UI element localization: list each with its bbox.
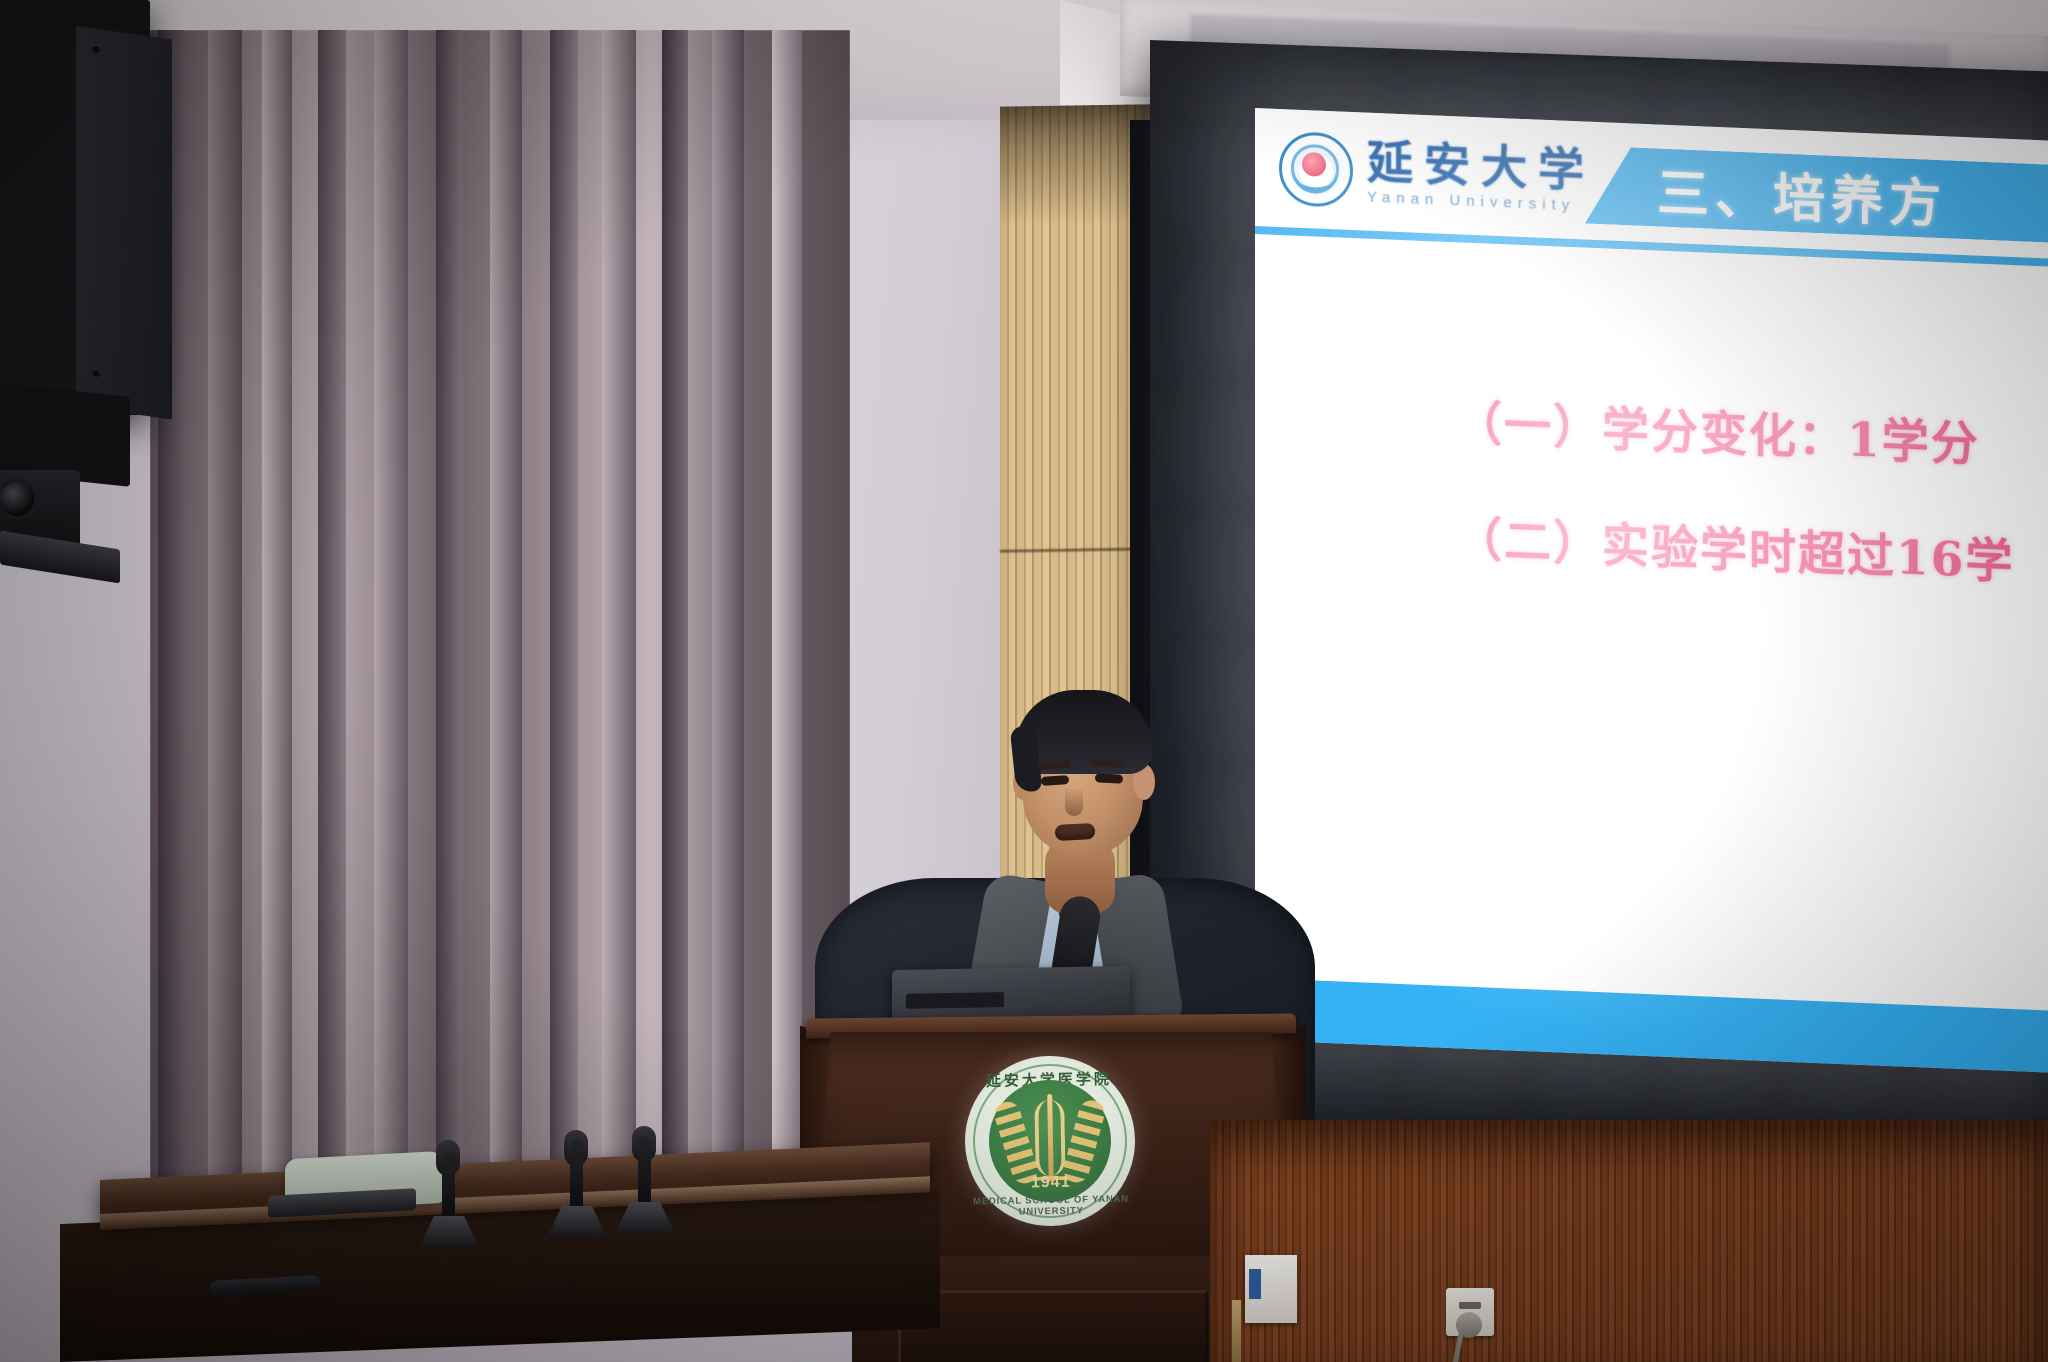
wall-paper-note bbox=[1245, 1255, 1297, 1323]
presenter-eye-left bbox=[1041, 775, 1070, 786]
screw-icon bbox=[92, 44, 100, 53]
slide-bullet-1: （一）学分变化：1学分 bbox=[1455, 384, 1980, 475]
microphone-stem bbox=[570, 1140, 583, 1214]
emblem-core: 1941 bbox=[988, 1079, 1112, 1203]
window-curtain[interactable] bbox=[150, 30, 850, 1230]
slide-title: 三、培养方 bbox=[1657, 150, 1947, 237]
note-mark-icon bbox=[1249, 1269, 1261, 1299]
microphone-stem bbox=[638, 1136, 651, 1210]
back-wall-wood-panel bbox=[1210, 1120, 2048, 1362]
slide-bullet-2: （二）实验学时超过16学 bbox=[1455, 500, 2014, 592]
lecture-hall-scene: 延安大学 Yanan University 三、培养方 （一）学分变化：1学分 … bbox=[0, 0, 2048, 1362]
socket-slot-icon bbox=[1459, 1302, 1481, 1309]
slide-body: （一）学分变化：1学分 （二）实验学时超过16学 bbox=[1255, 234, 2048, 1003]
emblem-name-en: MEDICAL SCHOOL OF YANAN UNIVERSITY bbox=[966, 1194, 1136, 1219]
university-name-cn: 延安大学 bbox=[1367, 138, 1595, 193]
wall-mounted-loudspeaker bbox=[0, 0, 150, 415]
screw-icon bbox=[92, 368, 100, 377]
medical-school-emblem: 延安大学医学院 1941 MEDICAL SCHOOL OF YANAN UNI… bbox=[964, 1055, 1137, 1228]
loudspeaker-face bbox=[76, 26, 172, 419]
snake-icon bbox=[1034, 1100, 1065, 1177]
yanan-university-seal-icon bbox=[1279, 131, 1353, 208]
presenter-nose bbox=[1065, 788, 1083, 816]
floor-stand-pole bbox=[1232, 1300, 1241, 1362]
podium-base-inset bbox=[898, 1290, 1208, 1362]
presenter-mouth bbox=[1055, 823, 1096, 841]
camera-lens-icon bbox=[0, 482, 34, 516]
slide-title-banner: 三、培养方 bbox=[1585, 146, 2048, 243]
presenter-eye-right bbox=[1095, 773, 1123, 783]
microphone-stem bbox=[442, 1150, 455, 1224]
emblem-year: 1941 bbox=[990, 1173, 1112, 1193]
university-logo: 延安大学 Yanan University bbox=[1255, 130, 1595, 218]
laptop-logo-icon bbox=[906, 992, 1004, 1009]
projected-slide: 延安大学 Yanan University 三、培养方 （一）学分变化：1学分 … bbox=[1255, 108, 2048, 1073]
